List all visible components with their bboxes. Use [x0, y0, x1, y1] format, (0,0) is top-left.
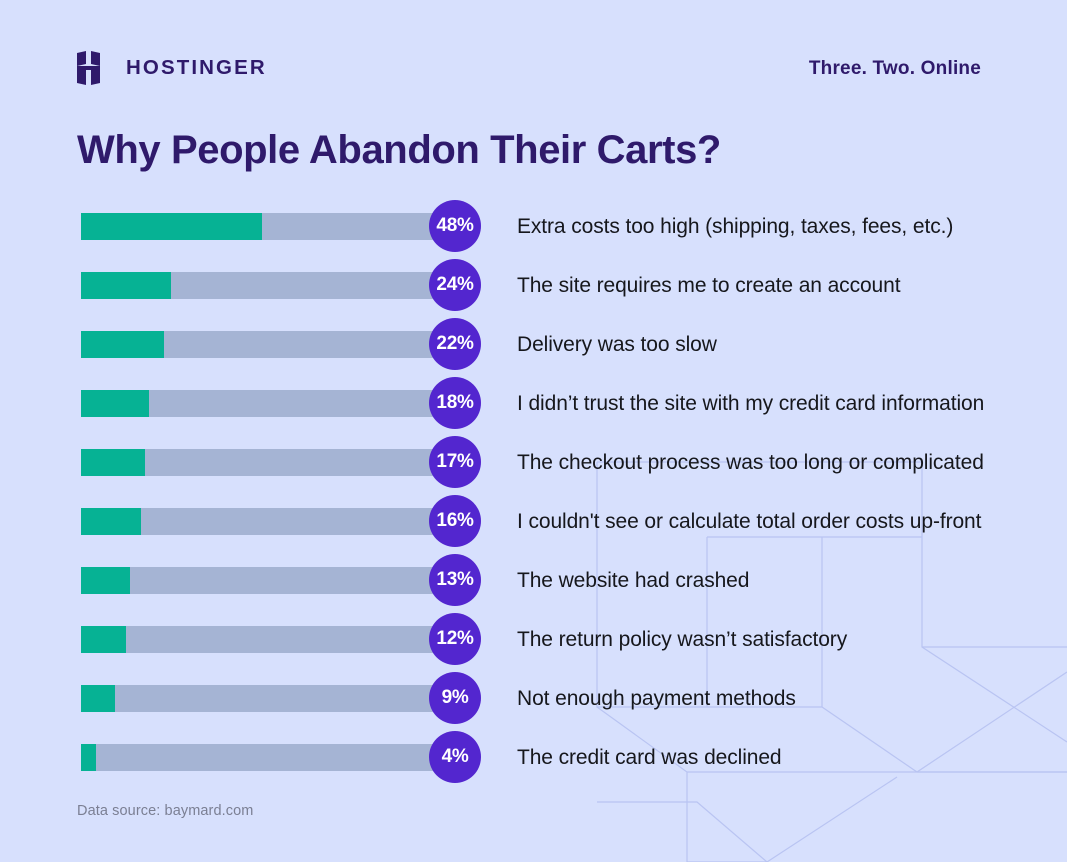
reason-label: I couldn't see or calculate total order … — [517, 492, 981, 551]
bar-track — [81, 390, 458, 417]
reason-label: Extra costs too high (shipping, taxes, f… — [517, 197, 953, 256]
reason-label: The return policy wasn’t satisfactory — [517, 610, 847, 669]
brand-logo[interactable]: HOSTINGER — [77, 51, 267, 85]
data-source-note: Data source: baymard.com — [77, 803, 253, 819]
brand-tagline: Three. Two. Online — [809, 59, 981, 78]
reason-label: The website had crashed — [517, 551, 749, 610]
bar-fill — [81, 744, 96, 771]
bar-track — [81, 685, 458, 712]
reason-label: Not enough payment methods — [517, 669, 796, 728]
chart-row: 17%The checkout process was too long or … — [0, 433, 1067, 492]
bar-track — [81, 213, 458, 240]
value-badge: 13% — [429, 554, 481, 606]
bar-chart: 48%Extra costs too high (shipping, taxes… — [0, 197, 1067, 787]
value-badge: 48% — [429, 200, 481, 252]
chart-row: 18%I didn’t trust the site with my credi… — [0, 374, 1067, 433]
bar-track — [81, 567, 458, 594]
reason-label: The checkout process was too long or com… — [517, 433, 984, 492]
page-title: Why People Abandon Their Carts? — [77, 128, 721, 172]
bar-track — [81, 272, 458, 299]
bar-fill — [81, 567, 130, 594]
bar-track — [81, 508, 458, 535]
bar-fill — [81, 213, 262, 240]
reason-label: I didn’t trust the site with my credit c… — [517, 374, 984, 433]
chart-row: 22%Delivery was too slow — [0, 315, 1067, 374]
hostinger-h-logo-icon — [77, 51, 109, 85]
value-badge: 18% — [429, 377, 481, 429]
bar-fill — [81, 685, 115, 712]
reason-label: The site requires me to create an accoun… — [517, 256, 900, 315]
chart-row: 4%The credit card was declined — [0, 728, 1067, 787]
bar-track — [81, 626, 458, 653]
infographic-canvas: HOSTINGER Three. Two. Online Why People … — [0, 0, 1067, 862]
chart-row: 48%Extra costs too high (shipping, taxes… — [0, 197, 1067, 256]
bar-fill — [81, 390, 149, 417]
value-badge: 12% — [429, 613, 481, 665]
value-badge: 16% — [429, 495, 481, 547]
bar-track — [81, 331, 458, 358]
reason-label: The credit card was declined — [517, 728, 782, 787]
chart-row: 9%Not enough payment methods — [0, 669, 1067, 728]
header: HOSTINGER Three. Two. Online — [77, 45, 981, 91]
value-badge: 9% — [429, 672, 481, 724]
value-badge: 24% — [429, 259, 481, 311]
value-badge: 4% — [429, 731, 481, 783]
chart-row: 24%The site requires me to create an acc… — [0, 256, 1067, 315]
chart-row: 13%The website had crashed — [0, 551, 1067, 610]
bar-fill — [81, 331, 164, 358]
bar-fill — [81, 508, 141, 535]
reason-label: Delivery was too slow — [517, 315, 717, 374]
value-badge: 17% — [429, 436, 481, 488]
chart-row: 16%I couldn't see or calculate total ord… — [0, 492, 1067, 551]
chart-row: 12%The return policy wasn’t satisfactory — [0, 610, 1067, 669]
value-badge: 22% — [429, 318, 481, 370]
bar-fill — [81, 449, 145, 476]
brand-name: HOSTINGER — [126, 58, 267, 79]
bar-track — [81, 744, 458, 771]
bar-track — [81, 449, 458, 476]
bar-fill — [81, 272, 171, 299]
bar-fill — [81, 626, 126, 653]
